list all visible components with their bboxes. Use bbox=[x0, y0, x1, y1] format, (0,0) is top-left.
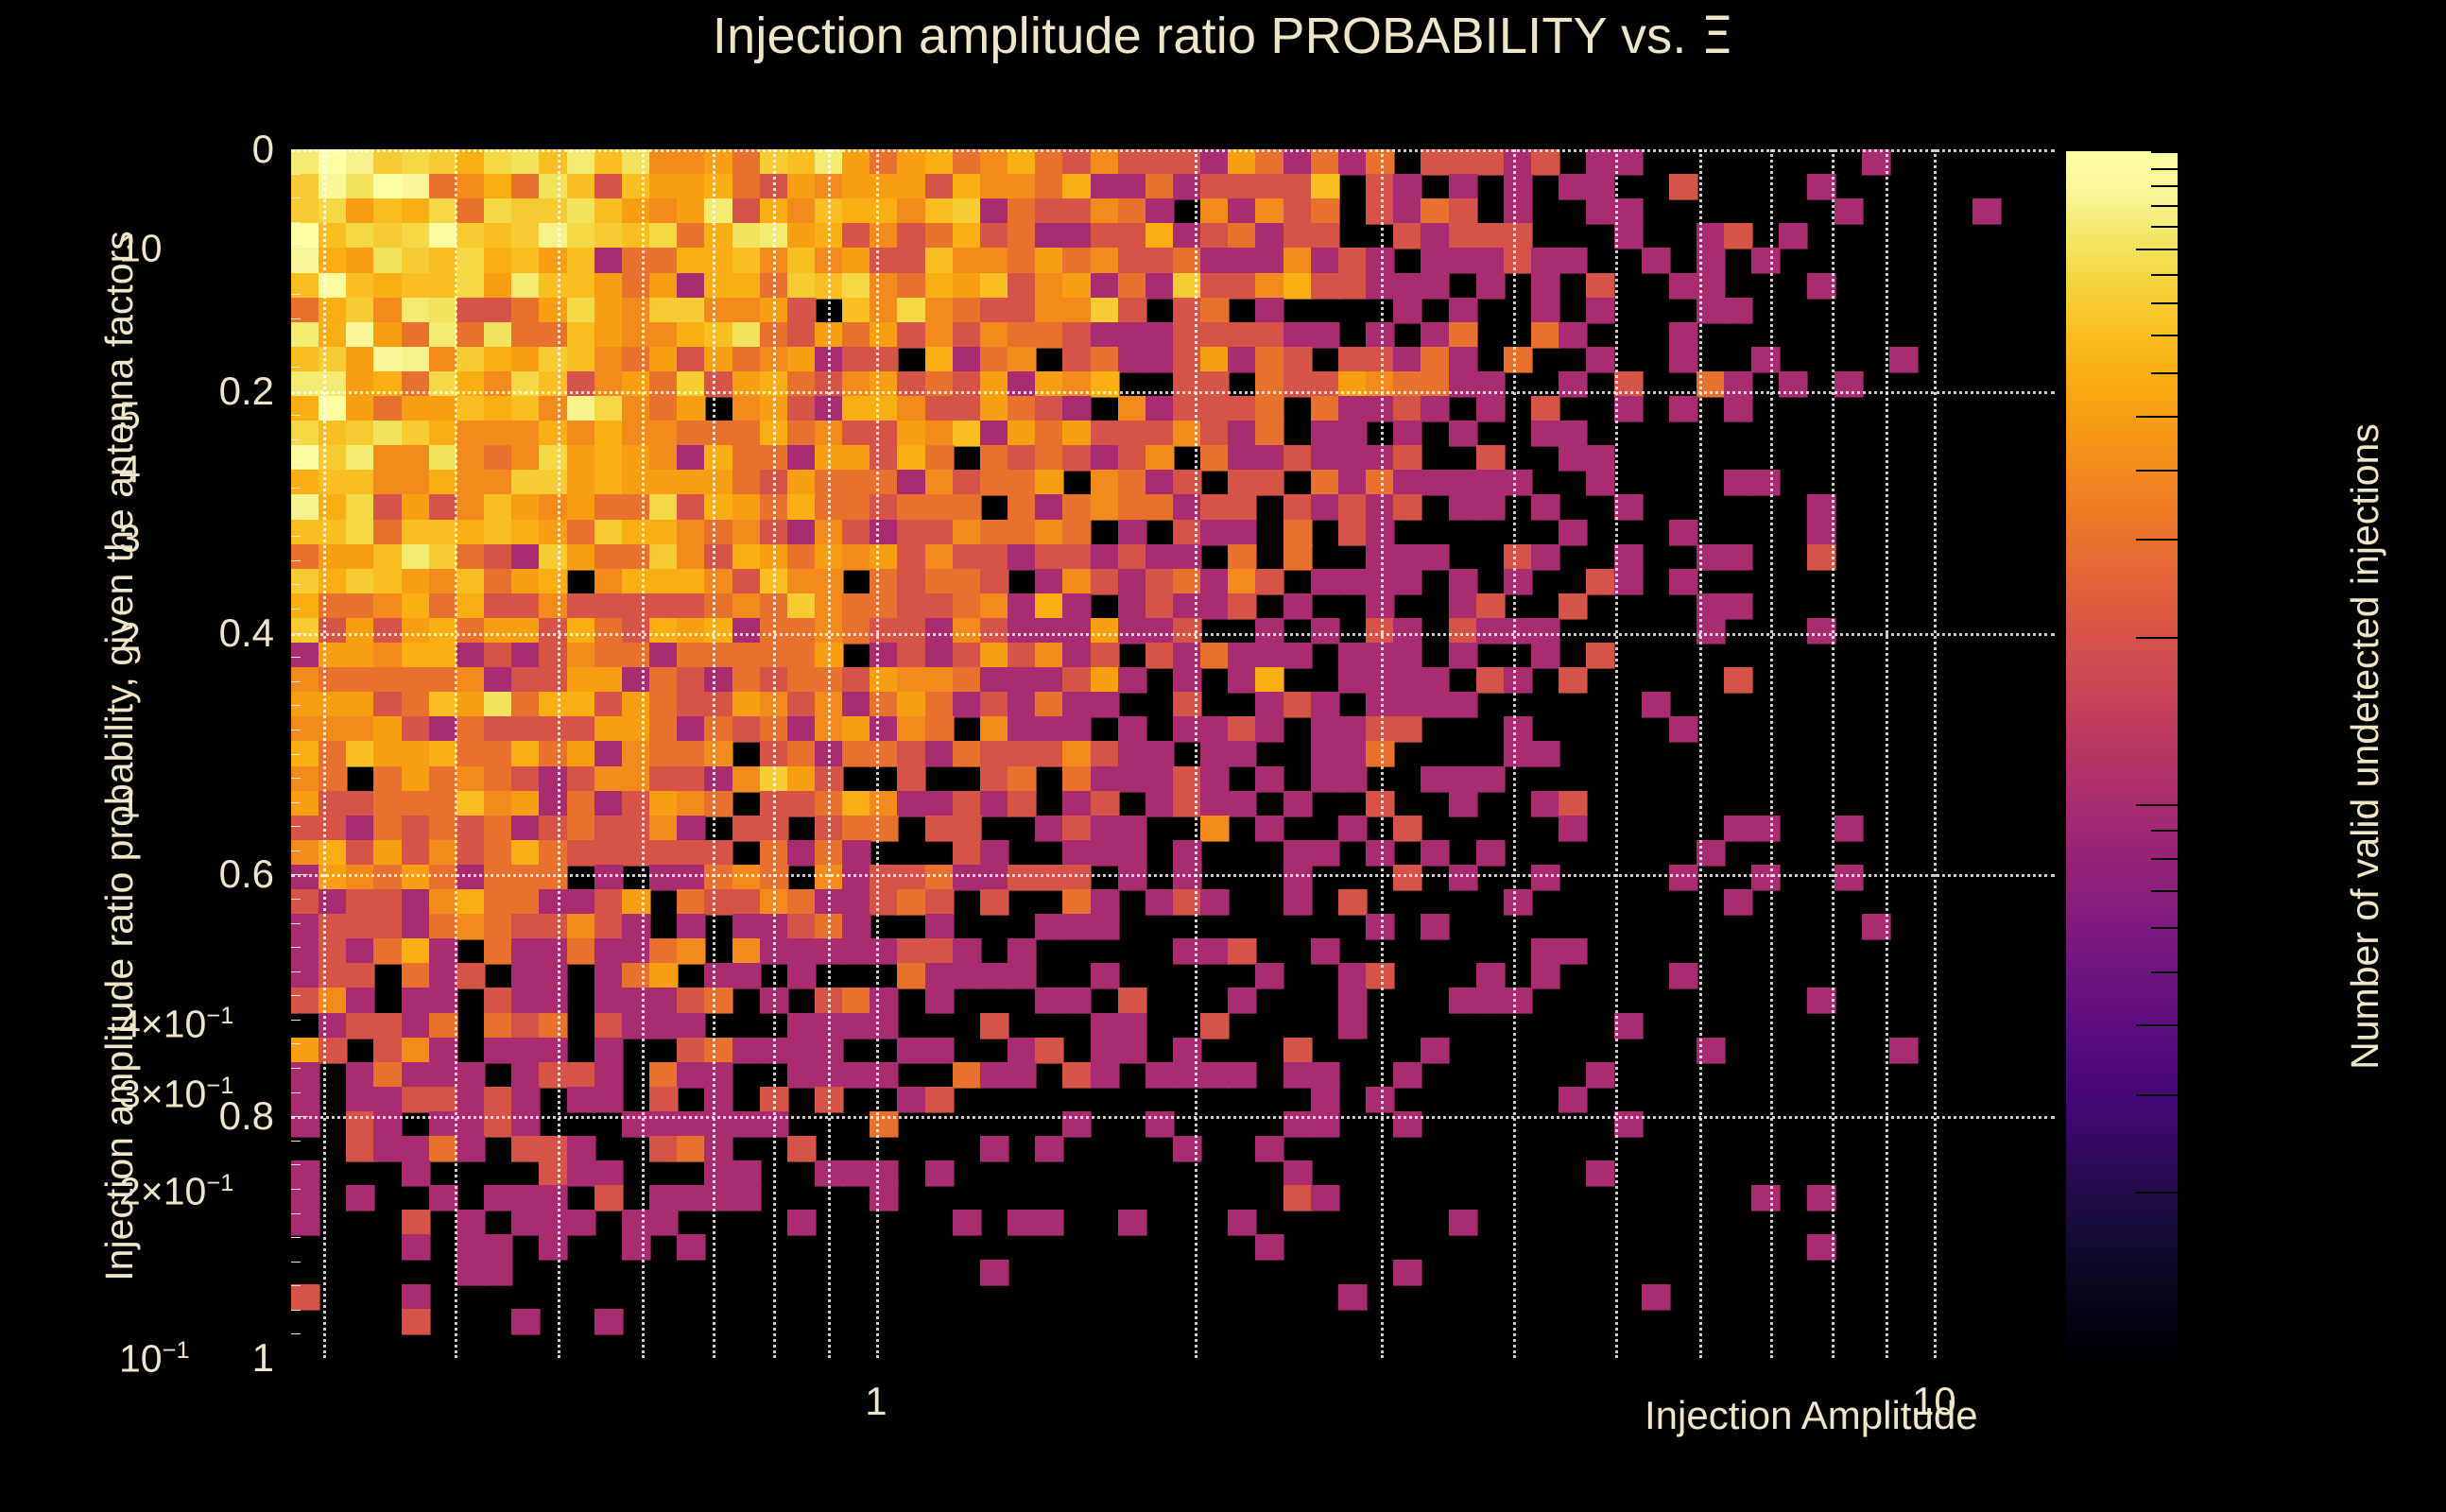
grid-line-vertical bbox=[1832, 149, 1834, 1358]
y-axis-tick bbox=[291, 1068, 301, 1069]
y-axis-tick bbox=[291, 560, 301, 561]
colorbar-tick-label: 10−1 bbox=[119, 1337, 190, 1382]
x-axis-tick-label: 1 bbox=[865, 1379, 887, 1424]
y-axis-tick bbox=[291, 1310, 301, 1311]
grid-line-vertical bbox=[1381, 149, 1384, 1358]
y-axis-tick bbox=[291, 584, 301, 585]
grid-line-vertical bbox=[1770, 149, 1773, 1358]
x-axis-title: Injection Amplitude bbox=[1645, 1393, 1978, 1438]
heatmap-plot-area bbox=[291, 149, 2055, 1358]
colorbar-tick-label: 2 bbox=[119, 614, 141, 659]
y-axis-tick bbox=[291, 778, 301, 779]
y-axis-tick bbox=[291, 174, 301, 175]
grid-line-horizontal bbox=[291, 391, 2055, 394]
y-axis-tick bbox=[291, 1020, 301, 1021]
grid-line-horizontal bbox=[291, 1116, 2055, 1119]
y-axis-tick bbox=[291, 1285, 301, 1286]
colorbar-tick-label: 4 bbox=[119, 448, 141, 492]
plot-title-text: Injection amplitude ratio PROBABILITY vs… bbox=[713, 8, 1701, 64]
colorbar-tick-label: 4×10−1 bbox=[119, 1003, 233, 1047]
colorbar-tick bbox=[2136, 1192, 2178, 1194]
grid-line-vertical bbox=[323, 149, 326, 1358]
colorbar-tick-label: 2×10−1 bbox=[119, 1170, 233, 1214]
grid-line-vertical bbox=[455, 149, 457, 1358]
heatmap-cells bbox=[291, 149, 2055, 1358]
y-axis-tick bbox=[291, 730, 301, 730]
y-axis-tick bbox=[291, 826, 301, 827]
y-axis-tick bbox=[291, 609, 301, 610]
y-axis-tick bbox=[291, 947, 301, 948]
y-axis-tick bbox=[291, 971, 301, 972]
colorbar-tick bbox=[2151, 890, 2178, 892]
y-axis-tick bbox=[291, 536, 301, 537]
y-axis-tick bbox=[291, 246, 301, 247]
colorbar-title-wrap: Number of valid undetected injections bbox=[2334, 85, 2395, 1408]
y-axis-tick bbox=[291, 633, 308, 634]
grid-line-vertical bbox=[713, 149, 715, 1358]
colorbar-tick bbox=[2136, 539, 2178, 541]
colorbar-tick bbox=[2136, 1024, 2178, 1026]
y-axis-tick bbox=[291, 367, 301, 368]
grid-line-horizontal bbox=[291, 149, 2055, 152]
y-axis-tick-label: 0.6 bbox=[219, 851, 274, 897]
colorbar-tick bbox=[2136, 1359, 2178, 1361]
y-axis-tick bbox=[291, 1189, 301, 1190]
grid-line-vertical bbox=[828, 149, 831, 1358]
colorbar-tick bbox=[2151, 151, 2178, 153]
colorbar-tick bbox=[2136, 249, 2178, 250]
grid-line-vertical bbox=[642, 149, 645, 1358]
colorbar-tick bbox=[2151, 971, 2178, 973]
colorbar-tick-label: 1 bbox=[119, 782, 141, 826]
y-axis-tick bbox=[291, 850, 301, 851]
y-axis-tick bbox=[291, 1333, 301, 1334]
grid-line-horizontal bbox=[291, 874, 2055, 877]
colorbar-tick-label: 3×10−1 bbox=[119, 1072, 233, 1116]
y-axis-tick bbox=[291, 705, 301, 706]
y-axis-tick-label: 0 bbox=[252, 127, 274, 172]
colorbar-tick bbox=[2151, 168, 2178, 170]
y-axis-tick bbox=[291, 1043, 301, 1044]
y-axis-tick bbox=[291, 488, 301, 489]
colorbar-tick bbox=[2151, 830, 2178, 832]
colorbar-tick bbox=[2151, 858, 2178, 860]
colorbar-tick bbox=[2151, 372, 2178, 374]
y-axis-tick bbox=[291, 1213, 301, 1214]
y-axis-tick bbox=[291, 464, 301, 465]
colorbar-tick-label: 10 bbox=[119, 227, 163, 271]
y-axis-tick bbox=[291, 343, 301, 344]
y-axis-tick bbox=[291, 1262, 301, 1263]
y-axis-tick bbox=[291, 681, 301, 682]
colorbar-tick bbox=[2151, 226, 2178, 228]
y-axis-tick bbox=[291, 439, 301, 440]
grid-line-vertical bbox=[1615, 149, 1618, 1358]
y-axis-tick-label: 1 bbox=[252, 1335, 274, 1381]
colorbar-tick-label: 3 bbox=[119, 517, 141, 561]
colorbar-title: Number of valid undetected injections bbox=[2334, 85, 2395, 1408]
y-axis-tick bbox=[291, 899, 301, 900]
y-axis-tick bbox=[291, 198, 301, 198]
plot-title-symbol: Ξ bbox=[1701, 6, 1733, 65]
y-axis-tick bbox=[291, 415, 301, 416]
colorbar-tick bbox=[2136, 470, 2178, 472]
y-axis-tick bbox=[291, 270, 301, 271]
y-axis-tick bbox=[291, 222, 301, 223]
y-axis-tick-label: 0.2 bbox=[219, 369, 274, 414]
grid-line-vertical bbox=[773, 149, 776, 1358]
y-axis-tick bbox=[291, 1164, 301, 1165]
colorbar-tick bbox=[2151, 274, 2178, 276]
colorbar-tick bbox=[2151, 185, 2178, 187]
y-axis-tick bbox=[291, 1116, 308, 1117]
y-axis-tick bbox=[291, 1141, 301, 1142]
grid-line-vertical bbox=[876, 149, 879, 1358]
colorbar-tick bbox=[2151, 335, 2178, 336]
y-axis-tick bbox=[291, 874, 308, 875]
grid-line-horizontal bbox=[291, 633, 2055, 636]
y-axis-tick bbox=[291, 294, 301, 295]
y-axis-tick bbox=[291, 149, 308, 150]
y-axis-tick-label: 0.4 bbox=[219, 610, 274, 656]
grid-line-vertical bbox=[1934, 149, 1937, 1358]
figure-canvas: Injection amplitude ratio PROBABILITY vs… bbox=[0, 0, 2446, 1512]
grid-line-vertical bbox=[1699, 149, 1702, 1358]
y-axis-tick bbox=[291, 1237, 301, 1238]
y-axis-tick bbox=[291, 391, 308, 392]
y-axis-tick bbox=[291, 318, 301, 319]
colorbar bbox=[2066, 151, 2178, 1359]
grid-line-vertical bbox=[558, 149, 560, 1358]
grid-line-vertical bbox=[1513, 149, 1516, 1358]
grid-line-vertical bbox=[1195, 149, 1197, 1358]
colorbar-tick bbox=[2151, 302, 2178, 304]
y-axis-tick bbox=[291, 802, 301, 803]
grid-line-vertical bbox=[1886, 149, 1888, 1358]
colorbar-tick-label: 5 bbox=[119, 394, 141, 438]
plot-title: Injection amplitude ratio PROBABILITY vs… bbox=[0, 6, 2446, 65]
y-axis-tick bbox=[291, 512, 301, 513]
colorbar-tick bbox=[2136, 1094, 2178, 1096]
colorbar-tick bbox=[2136, 637, 2178, 639]
colorbar-tick bbox=[2136, 804, 2178, 806]
y-axis-tick bbox=[291, 923, 301, 924]
y-axis-tick bbox=[291, 657, 301, 658]
colorbar-tick bbox=[2136, 416, 2178, 418]
y-axis-tick bbox=[291, 995, 301, 996]
colorbar-tick bbox=[2151, 205, 2178, 207]
y-axis-tick bbox=[291, 1092, 301, 1093]
y-axis-tick bbox=[291, 754, 301, 755]
colorbar-tick bbox=[2151, 927, 2178, 929]
